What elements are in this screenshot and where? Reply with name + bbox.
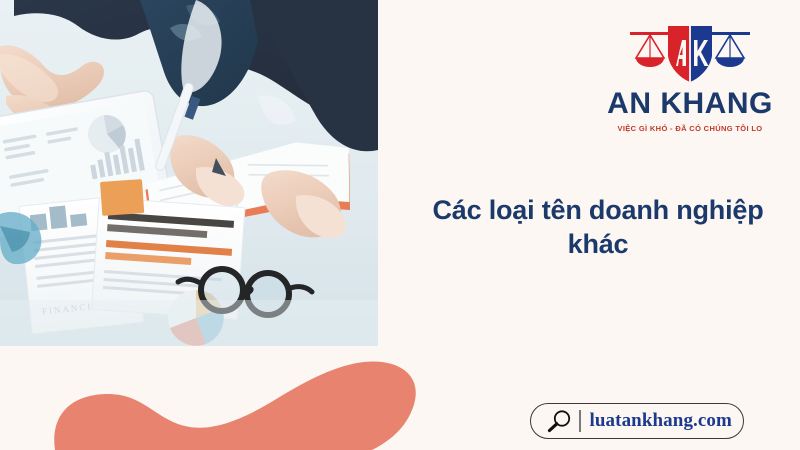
promo-banner: FINANCIAL [0, 0, 800, 450]
brand-logo: AN KHANG VIỆC GÌ KHÓ - ĐÃ CÓ CHÚNG TÔI L… [600, 18, 780, 133]
salmon-wave-blob [0, 340, 440, 450]
business-meeting-photo: FINANCIAL [0, 0, 378, 346]
logo-tagline: VIỆC GÌ KHÓ - ĐÃ CÓ CHÚNG TÔI LO [600, 124, 780, 133]
search-icon [543, 409, 577, 433]
logo-wordmark: AN KHANG [600, 88, 780, 120]
pill-divider [579, 410, 581, 432]
website-url-text: luatankhang.com [590, 410, 732, 432]
website-url-pill[interactable]: luatankhang.com [530, 403, 744, 439]
an-khang-scales-shield-icon [624, 18, 756, 86]
page-title: Các loại tên doanh nghiệp khác [404, 194, 792, 262]
